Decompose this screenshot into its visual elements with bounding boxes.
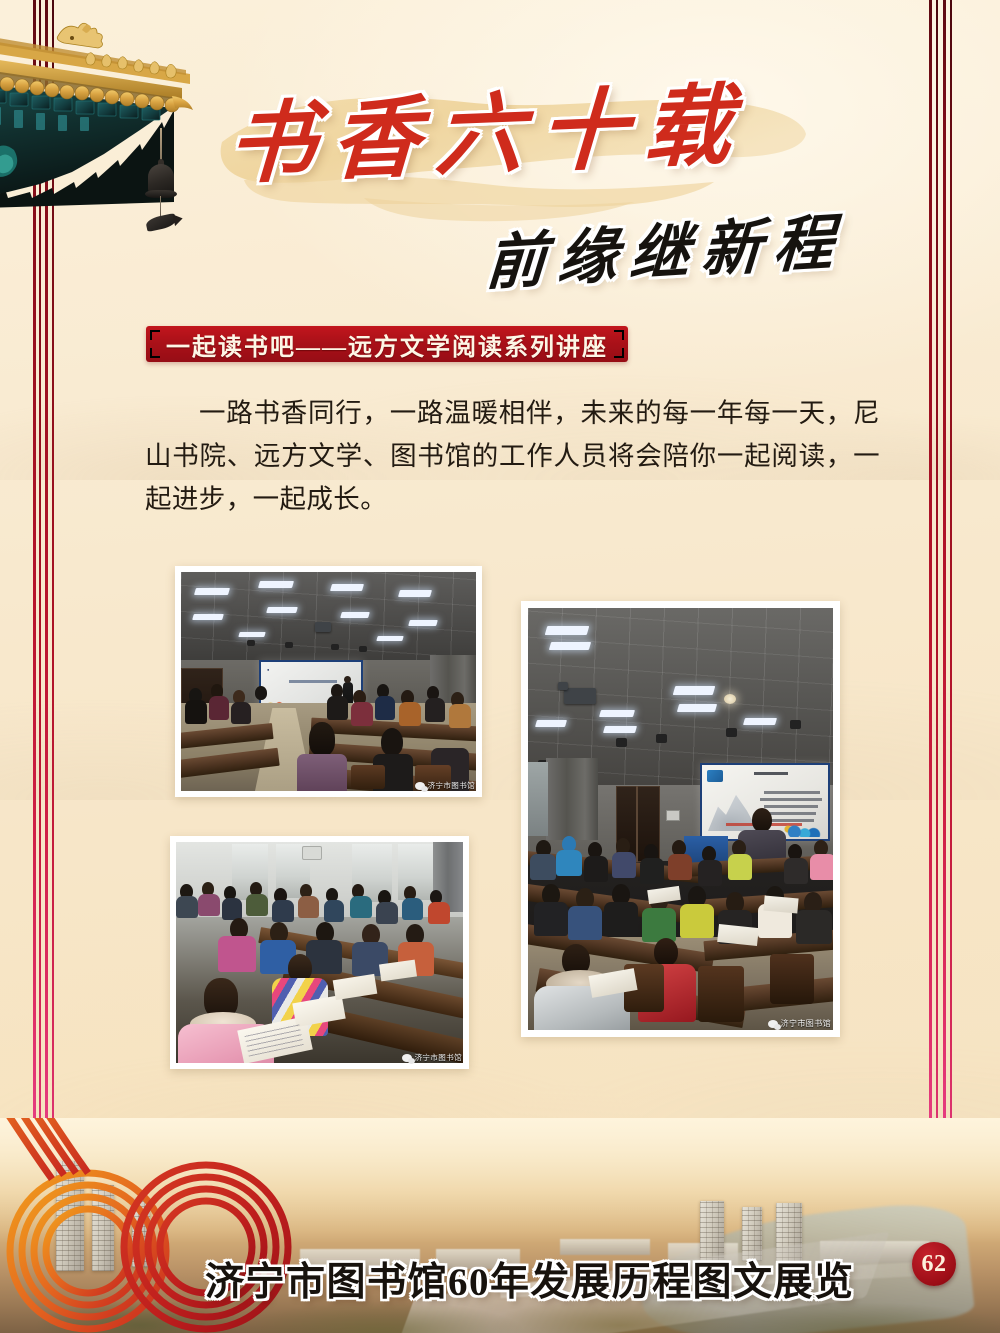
- page-number-badge: 62: [912, 1242, 956, 1286]
- section-banner-text: 一起读书吧——远方文学阅读系列讲座: [166, 327, 608, 362]
- corner-bracket-icon: [614, 348, 624, 358]
- photo-lecture-hall: ●: [175, 566, 482, 797]
- corner-bracket-icon: [150, 330, 160, 340]
- photo-watermark: 济宁市图书馆: [768, 1018, 831, 1029]
- wechat-icon: [402, 1054, 412, 1062]
- exhibition-page: 书香六十载 前缘继新程 一起读书吧——远方文学阅读系列讲座 一路书香同行，一路温…: [0, 0, 1000, 1333]
- footer-cityscape: 济宁市图书馆60年发展历程图文展览 62: [0, 1118, 1000, 1333]
- wechat-icon: [768, 1020, 778, 1028]
- page-title-line2: 前缘继新程: [484, 193, 849, 302]
- page-number: 62: [922, 1251, 947, 1278]
- chinese-roof-eave-icon: [0, 12, 204, 230]
- ink-wash-texture: [0, 760, 1000, 1140]
- section-banner: 一起读书吧——远方文学阅读系列讲座: [146, 326, 628, 362]
- corner-bracket-icon: [614, 330, 624, 340]
- wechat-icon: [415, 782, 425, 790]
- page-title-line1: 书香六十载: [225, 54, 751, 201]
- corner-bracket-icon: [150, 348, 160, 358]
- photo-students-writing: 济宁市图书馆: [170, 836, 469, 1069]
- footer-title: 济宁市图书馆60年发展历程图文展览: [205, 1251, 855, 1307]
- body-paragraph: 一路书香同行，一路温暖相伴，未来的每一年每一天，尼山书院、远方文学、图书馆的工作…: [145, 392, 880, 521]
- photo-watermark: 济宁市图书馆: [415, 780, 475, 791]
- photo-classroom-lecture: 济宁市图书馆: [521, 601, 840, 1037]
- photo-watermark: 济宁市图书馆: [402, 1052, 462, 1063]
